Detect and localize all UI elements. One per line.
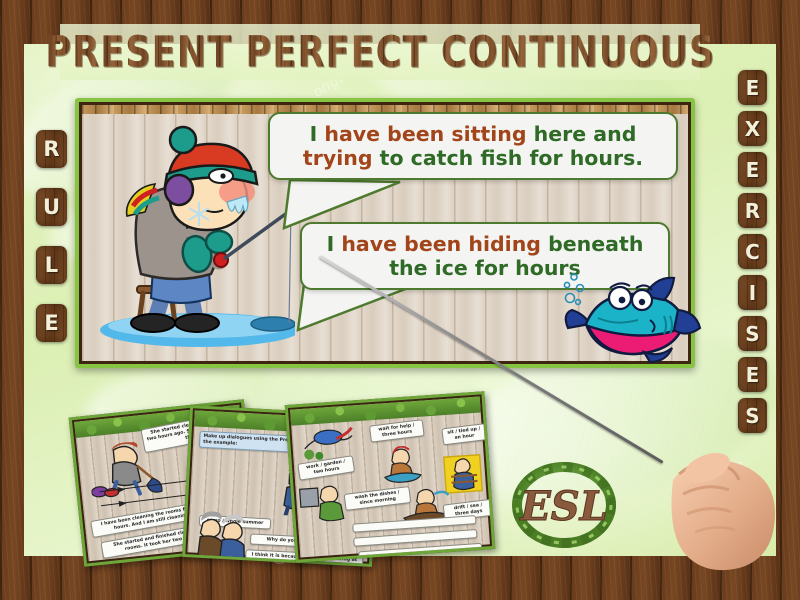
thumb3-label-2: sit / tied up / an hour [441, 423, 487, 446]
mini-dishwasher-icon [297, 482, 346, 523]
bubble1-seg-0: I [310, 122, 325, 146]
thumb3-surface: work / garden / two hours wait for help … [290, 397, 490, 558]
bubble1-seg-4: to catch fish for hours. [380, 146, 643, 170]
mini-castaway-icon [379, 445, 426, 486]
sidebar-rule-column[interactable]: R U L E [36, 130, 67, 342]
title-banner: PRESENT PERFECT CONTINUOUS [60, 24, 700, 80]
esl-logo: ESL [508, 458, 620, 553]
rule-letter-tile-u[interactable]: U [36, 188, 67, 226]
bubble2-seg-0: I [327, 232, 342, 256]
pointer-hand-photo [665, 428, 785, 578]
cartoon-fish-illustration [558, 268, 703, 363]
ice-fisherman-illustration [95, 118, 295, 353]
page-title: PRESENT PERFECT CONTINUOUS [45, 31, 715, 74]
esl-logo-text: ESL [519, 483, 608, 530]
exercises-letter-tile-0[interactable]: E [738, 70, 767, 105]
rule-letter-tile-e[interactable]: E [36, 304, 67, 342]
exercises-letter-tile-5[interactable]: I [738, 275, 767, 310]
exercises-letter-tile-6[interactable]: S [738, 316, 767, 351]
bubble1-seg-1: have been sitting [324, 122, 533, 146]
thumbnail-card-picture-prompts[interactable]: work / garden / two hours wait for help … [285, 391, 496, 563]
thumb3-label-1: wait for help / three hours [369, 419, 425, 443]
rule-letter-tile-l[interactable]: L [36, 246, 67, 284]
bubble1-seg-3: trying [303, 146, 380, 170]
speech-bubble-tail-2 [290, 282, 420, 342]
speech-bubble-fisherman: I have been sitting here and trying to c… [268, 112, 678, 180]
sidebar-exercises-column[interactable]: E X E R C I S E S [738, 70, 767, 433]
bubble1-seg-2: here and [534, 122, 637, 146]
exercises-letter-tile-1[interactable]: X [738, 111, 767, 146]
exercises-letter-tile-2[interactable]: E [738, 152, 767, 187]
rule-letter-tile-r[interactable]: R [36, 130, 67, 168]
exercises-letter-tile-7[interactable]: E [738, 357, 767, 392]
exercises-letter-tile-4[interactable]: C [738, 234, 767, 269]
bubble2-seg-1: have been hiding [341, 232, 548, 256]
exercises-letter-tile-3[interactable]: R [738, 193, 767, 228]
